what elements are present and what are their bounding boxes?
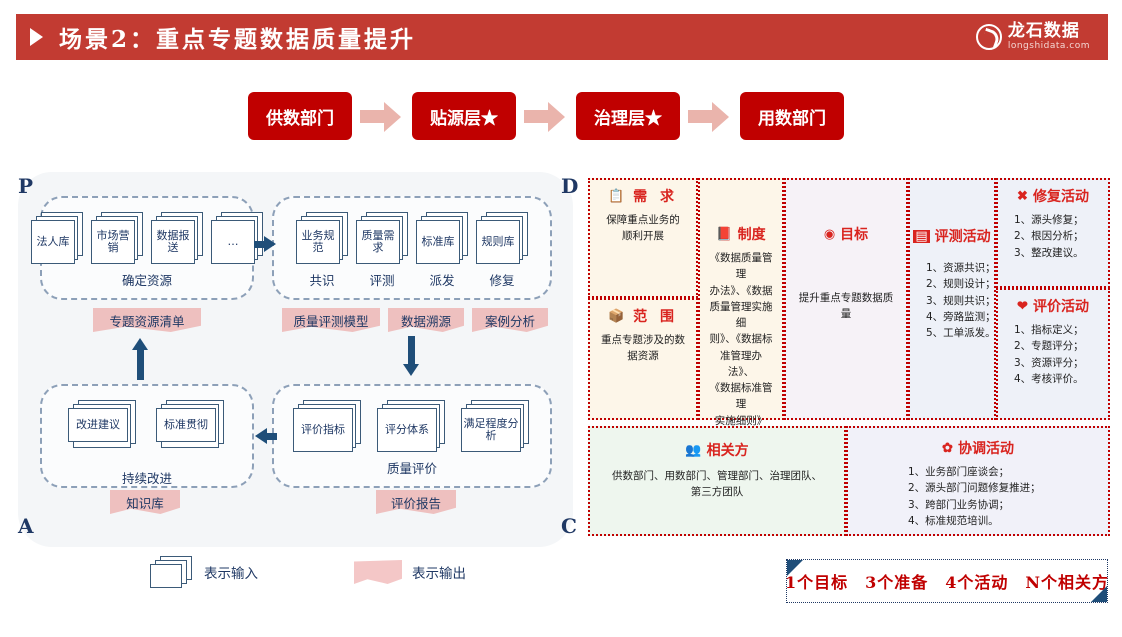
- cell-system-label: 制度: [738, 224, 766, 244]
- sub-label-repair: 修复: [476, 270, 528, 289]
- cell-evaluate-activity-label: 评价活动: [1033, 296, 1089, 316]
- output-banner-data-lineage: 数据溯源: [388, 308, 464, 332]
- phase-act-box: 改进建议 标准贯彻 持续改进: [40, 384, 254, 488]
- cell-coordination-activity-label: 协调活动: [958, 438, 1014, 458]
- legend-item-output: 表示输出: [354, 560, 466, 584]
- flow-step-source-layer[interactable]: 贴源层★: [412, 92, 516, 140]
- doc-label: 业务规范: [297, 230, 339, 255]
- flow-step-consume[interactable]: 用数部门: [740, 92, 844, 140]
- doc-card[interactable]: 评价指标: [293, 400, 363, 454]
- flow-arrow-icon-2: [524, 101, 568, 131]
- cell-goal-body: 提升重点专题数据质量: [794, 290, 898, 323]
- output-banner-case-analysis: 案例分析: [472, 308, 548, 332]
- pdca-letter-d: D: [561, 174, 578, 198]
- legend-output-label: 表示输出: [412, 562, 466, 582]
- cell-repair-activity-title: ✖ 修复活动: [1006, 186, 1100, 206]
- cell-stakeholders-body: 供数部门、用数部门、管理部门、治理团队、 第三方团队: [598, 468, 836, 501]
- arrow-do-to-check-icon: [403, 336, 419, 380]
- phase-act-label: 持续改进: [42, 468, 252, 487]
- cell-assess-activity-title: ▤ 评测活动: [918, 226, 986, 246]
- phase-plan-docs: 法人库 市场营销 数据报送 …: [42, 198, 252, 266]
- summary-text: 1个目标 3个准备 4个活动 N个相关方: [785, 569, 1109, 593]
- legend-input-label: 表示输入: [204, 562, 258, 582]
- logo-swirl-icon: [976, 24, 1002, 50]
- tools-icon: ✖: [1017, 190, 1028, 203]
- cell-goal-title: ◉ 目标: [794, 224, 898, 244]
- phase-plan-label: 确定资源: [42, 270, 252, 289]
- cell-scope-body: 重点专题涉及的数 据资源: [598, 332, 688, 365]
- doc-card[interactable]: 标准库: [416, 212, 468, 266]
- play-triangle-icon: [30, 28, 43, 46]
- doc-card[interactable]: 质量需求: [356, 212, 408, 266]
- list-icon: ▤: [913, 230, 929, 243]
- cell-stakeholders-label: 相关方: [707, 440, 749, 460]
- cell-requirement-title: 📋 需 求: [598, 186, 688, 206]
- flow-arrow-icon-3: [688, 101, 732, 131]
- box-icon: 📦: [608, 310, 628, 323]
- doc-card[interactable]: 标准贯彻: [156, 400, 226, 454]
- page-title: 场景2：重点专题数据质量提升: [59, 20, 416, 54]
- legend-item-input: 表示输入: [150, 556, 258, 588]
- cell-assess-activity[interactable]: ▤ 评测活动 1、资源共识； 2、规则设计； 3、规则共识； 4、旁路监测； 5…: [908, 178, 996, 420]
- doc-label: 评分体系: [385, 424, 429, 436]
- cell-goal-label: 目标: [840, 224, 868, 244]
- gear-icon: ✿: [942, 442, 953, 455]
- doc-card[interactable]: 改进建议: [68, 400, 138, 454]
- output-banner-quality-model: 质量评测模型: [282, 308, 380, 332]
- pdca-letter-a: A: [18, 514, 34, 538]
- target-icon: ◉: [824, 228, 835, 241]
- flower-icon: ❤: [1017, 300, 1028, 313]
- data-flow-diagram: 供数部门 贴源层★ 治理层★ 用数部门: [248, 92, 844, 140]
- ribbon-banner-icon: [354, 560, 402, 584]
- cell-stakeholders[interactable]: 👥 相关方 供数部门、用数部门、管理部门、治理团队、 第三方团队: [588, 426, 846, 536]
- cell-scope-label: 范 围: [633, 306, 678, 326]
- cell-system-title: 📕 制度: [708, 224, 774, 244]
- doc-card[interactable]: 业务规范: [296, 212, 348, 266]
- cell-evaluate-activity-body: 1、指标定义； 2、专题评分； 3、资源评分； 4、考核评价。: [1006, 322, 1100, 387]
- book-icon: 📕: [716, 228, 732, 241]
- arrow-act-to-plan-icon: [132, 336, 148, 380]
- cell-system[interactable]: 📕 制度 《数据质量管理 办法》、《数据 质量管理实施细 则》、《数据标 准管理…: [698, 178, 784, 420]
- phase-do-docs: 业务规范 质量需求 标准库 规则库: [274, 198, 550, 266]
- cell-requirement-body: 保障重点业务的 顺利开展: [598, 212, 688, 245]
- cell-system-body: 《数据质量管理 办法》、《数据 质量管理实施细 则》、《数据标 准管理办法》、 …: [708, 250, 774, 429]
- doc-card[interactable]: 法人库: [31, 212, 83, 266]
- phase-check-label: 质量评价: [274, 458, 550, 477]
- doc-card[interactable]: 数据报送: [151, 212, 203, 266]
- cell-assess-activity-body: 1、资源共识； 2、规则设计； 3、规则共识； 4、旁路监测； 5、工单派发。: [918, 260, 986, 341]
- document-stack-icon: [150, 556, 194, 588]
- output-banner-eval-report: 评价报告: [376, 490, 456, 514]
- cell-evaluate-activity[interactable]: ❤ 评价活动 1、指标定义； 2、专题评分； 3、资源评分； 4、考核评价。: [996, 288, 1110, 420]
- cell-scope-title: 📦 范 围: [598, 306, 688, 326]
- logo-name-cn: 龙石数据: [1008, 23, 1090, 41]
- brand-logo: 龙石数据 longshidata.com: [976, 23, 1090, 51]
- doc-label: 满足程度分析: [462, 418, 520, 443]
- sub-label-assess: 评测: [356, 270, 408, 289]
- logo-name-en: longshidata.com: [1008, 41, 1090, 51]
- doc-card[interactable]: 满足程度分析: [461, 400, 531, 454]
- pdca-letter-p: P: [18, 174, 33, 198]
- phase-do-sublabels: 共识 评测 派发 修复: [274, 270, 550, 289]
- output-banner-resource-list: 专题资源清单: [93, 308, 201, 332]
- clipboard-icon: 📋: [608, 190, 628, 203]
- doc-label: 改进建议: [76, 419, 120, 431]
- doc-label: 规则库: [482, 236, 515, 248]
- arrow-check-to-act-icon: [255, 428, 277, 444]
- doc-label: 标准贯彻: [164, 419, 208, 431]
- flow-step-supply[interactable]: 供数部门: [248, 92, 352, 140]
- cell-repair-activity[interactable]: ✖ 修复活动 1、源头修复； 2、根因分析； 3、整改建议。: [996, 178, 1110, 288]
- phase-act-docs: 改进建议 标准贯彻: [42, 386, 252, 454]
- cell-stakeholders-title: 👥 相关方: [598, 440, 836, 460]
- cell-coordination-activity[interactable]: ✿ 协调活动 1、业务部门座谈会； 2、源头部门问题修复推进； 3、跨部门业务协…: [846, 426, 1110, 536]
- phase-check-box: 评价指标 评分体系 满足程度分析 质量评价: [272, 384, 552, 488]
- sub-label-consensus: 共识: [296, 270, 348, 289]
- phase-check-docs: 评价指标 评分体系 满足程度分析: [274, 386, 550, 454]
- people-icon: 👥: [685, 444, 701, 457]
- cell-requirement[interactable]: 📋 需 求 保障重点业务的 顺利开展: [588, 178, 698, 298]
- doc-card[interactable]: 规则库: [476, 212, 528, 266]
- doc-card[interactable]: 评分体系: [377, 400, 447, 454]
- legend: 表示输入 表示输出: [150, 556, 466, 588]
- summary-box: 1个目标 3个准备 4个活动 N个相关方: [786, 559, 1108, 603]
- flow-arrow-icon-1: [360, 101, 404, 131]
- phase-do-box: 业务规范 质量需求 标准库 规则库 共识 评测 派发 修复: [272, 196, 552, 300]
- corner-triangle-top-left-icon: [787, 560, 803, 576]
- doc-label: 法人库: [37, 236, 70, 248]
- flow-step-governance-layer[interactable]: 治理层★: [576, 92, 680, 140]
- cell-coordination-activity-body: 1、业务部门座谈会； 2、源头部门问题修复推进； 3、跨部门业务协调； 4、标准…: [856, 464, 1100, 529]
- cell-evaluate-activity-title: ❤ 评价活动: [1006, 296, 1100, 316]
- pdca-letter-c: C: [561, 514, 577, 538]
- sub-label-dispatch: 派发: [416, 270, 468, 289]
- corner-triangle-bottom-right-icon: [1091, 586, 1107, 602]
- doc-label: …: [228, 236, 239, 248]
- doc-label: 标准库: [422, 236, 455, 248]
- doc-label: 数据报送: [152, 230, 194, 255]
- management-framework-panel: 📋 需 求 保障重点业务的 顺利开展 📦 范 围 重点专题涉及的数 据资源 📕 …: [588, 178, 1110, 536]
- phase-plan-box: 法人库 市场营销 数据报送 … 确定资源: [40, 196, 254, 300]
- doc-label: 市场营销: [92, 230, 134, 255]
- cell-repair-activity-label: 修复活动: [1033, 186, 1089, 206]
- doc-card[interactable]: 市场营销: [91, 212, 143, 266]
- cell-assess-activity-label: 评测活动: [935, 226, 991, 246]
- output-banner-knowledge-base: 知识库: [110, 490, 180, 514]
- cell-requirement-label: 需 求: [633, 186, 678, 206]
- cell-goal[interactable]: ◉ 目标 提升重点专题数据质量: [784, 178, 908, 420]
- page-header: 场景2：重点专题数据质量提升 龙石数据 longshidata.com: [16, 14, 1108, 60]
- arrow-plan-to-do-icon: [254, 236, 276, 252]
- doc-label: 评价指标: [301, 424, 345, 436]
- doc-label: 质量需求: [357, 230, 399, 255]
- cell-repair-activity-body: 1、源头修复； 2、根因分析； 3、整改建议。: [1006, 212, 1100, 261]
- cell-scope[interactable]: 📦 范 围 重点专题涉及的数 据资源: [588, 298, 698, 420]
- cell-coordination-activity-title: ✿ 协调活动: [856, 438, 1100, 458]
